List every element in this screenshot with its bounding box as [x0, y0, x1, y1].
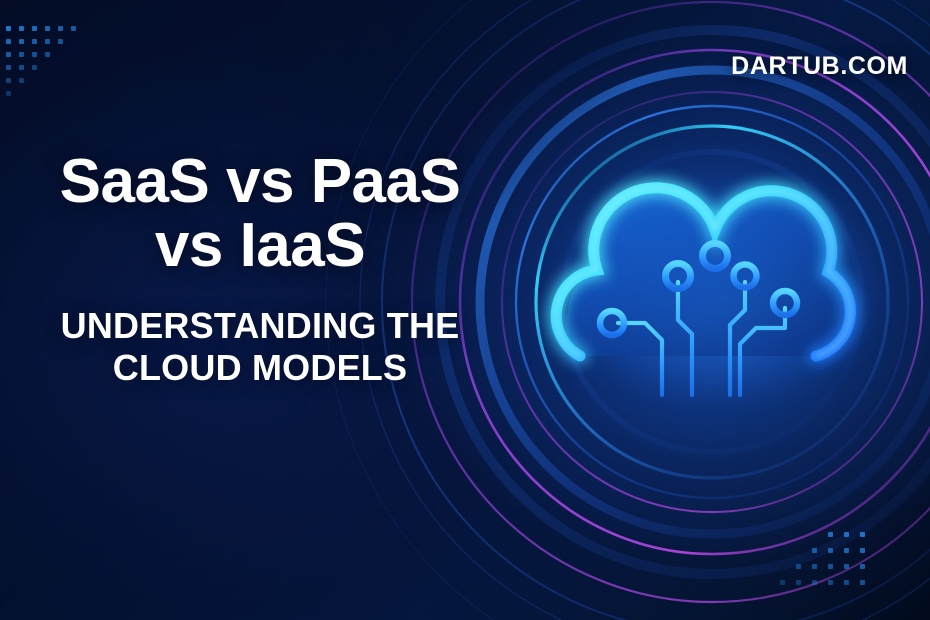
decorative-dot: [32, 65, 37, 70]
page-title-line-1: SaaS vs PaaS: [60, 147, 461, 216]
decorative-dot: [6, 39, 11, 44]
page-subtitle-line-1: UNDERSTANDING THE: [61, 305, 460, 346]
decorative-dot: [71, 26, 76, 31]
cloud-circuit-graphic: [540, 160, 890, 420]
decorative-dot: [6, 52, 11, 57]
decorative-dot: [32, 26, 37, 31]
decorative-dot: [58, 26, 63, 31]
decorative-dot: [780, 580, 785, 585]
decorative-dot: [828, 564, 833, 569]
page-title-line-2: vs IaaS: [0, 214, 520, 278]
page-subtitle-line-2: CLOUD MODELS: [0, 347, 520, 389]
decorative-dot: [19, 78, 24, 83]
decorative-dot: [812, 580, 817, 585]
poster-canvas: DARTUB.COM SaaS vs PaaS vs IaaS UNDERSTA…: [0, 0, 930, 620]
hero-text-panel: SaaS vs PaaS vs IaaS UNDERSTANDING THE C…: [0, 150, 520, 390]
decorative-dot: [796, 564, 801, 569]
brand-logo-text: DARTUB.COM: [731, 52, 908, 81]
decorative-dot: [828, 580, 833, 585]
decorative-dot: [32, 39, 37, 44]
decorative-dot: [45, 52, 50, 57]
decorative-dot: [828, 532, 833, 537]
decorative-dot: [6, 91, 11, 96]
decorative-dot: [860, 564, 865, 569]
page-subtitle: UNDERSTANDING THE CLOUD MODELS: [0, 305, 520, 390]
decorative-dot: [812, 564, 817, 569]
decorative-dot: [844, 548, 849, 553]
decorative-dot: [844, 532, 849, 537]
decorative-dot: [45, 39, 50, 44]
decorative-dot: [812, 548, 817, 553]
dot-grid-top-left: [6, 26, 116, 136]
decorative-dot: [19, 39, 24, 44]
decorative-dot: [58, 39, 63, 44]
decorative-dot: [19, 26, 24, 31]
decorative-dot: [19, 52, 24, 57]
decorative-dot: [860, 580, 865, 585]
decorative-dot: [19, 65, 24, 70]
decorative-dot: [844, 564, 849, 569]
decorative-dot: [828, 548, 833, 553]
decorative-dot: [860, 548, 865, 553]
decorative-dot: [6, 65, 11, 70]
decorative-dot: [6, 78, 11, 83]
page-title: SaaS vs PaaS vs IaaS: [0, 150, 520, 279]
decorative-dot: [6, 26, 11, 31]
decorative-dot: [796, 580, 801, 585]
decorative-dot: [45, 26, 50, 31]
cloud-icon: [540, 160, 890, 420]
dot-grid-bottom-right: [828, 532, 928, 612]
decorative-dot: [844, 580, 849, 585]
decorative-dot: [860, 532, 865, 537]
decorative-dot: [32, 52, 37, 57]
